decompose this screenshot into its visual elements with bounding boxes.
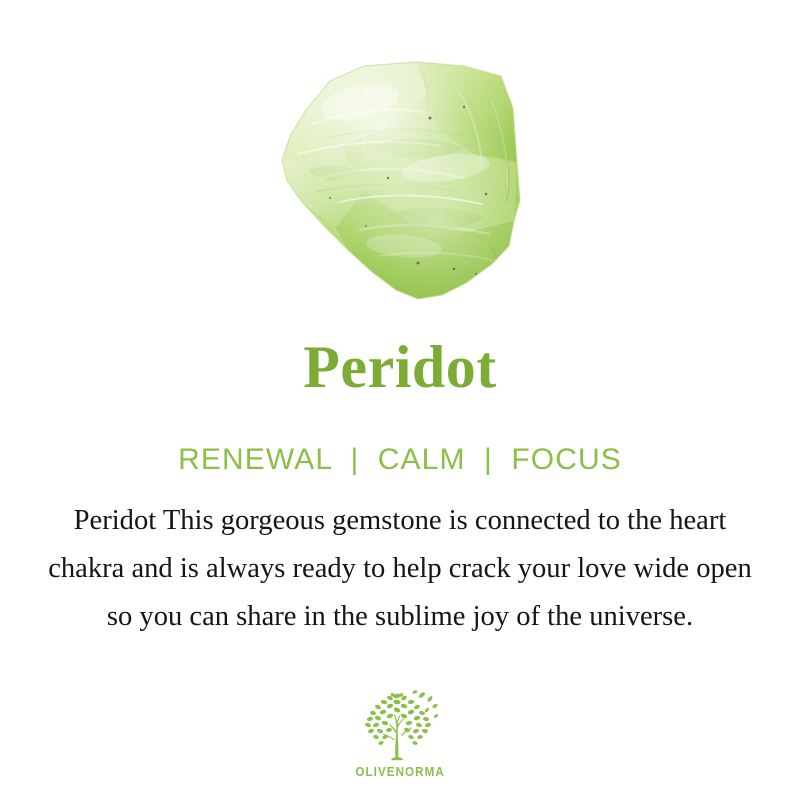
description-line-2: chakra and is always ready to help crack… [16,544,784,592]
stone-body [268,50,543,310]
keyword-calm: CALM [378,443,466,476]
floating-leaves [412,690,439,719]
keyword-renewal: RENEWAL [178,443,332,476]
hero-image-area [0,0,800,320]
keyword-focus: FOCUS [511,443,622,476]
olive-tree-icon [357,686,443,762]
keyword-separator-2: | [475,441,502,479]
page-title: Peridot [0,334,800,400]
description-line-3: so you can share in the sublime joy of t… [16,592,784,640]
keyword-separator-1: | [341,441,368,479]
brand-logo: OLIVENORMA [0,686,800,779]
keyword-line: RENEWAL | CALM | FOCUS [0,441,800,479]
description-text: Peridot This gorgeous gemstone is connec… [10,496,790,640]
raw-peridot-crystal-icon [268,50,543,310]
product-info-card: Peridot RENEWAL | CALM | FOCUS Peridot T… [0,0,800,800]
brand-wordmark: OLIVENORMA [355,765,444,779]
description-line-1: Peridot This gorgeous gemstone is connec… [16,496,784,544]
